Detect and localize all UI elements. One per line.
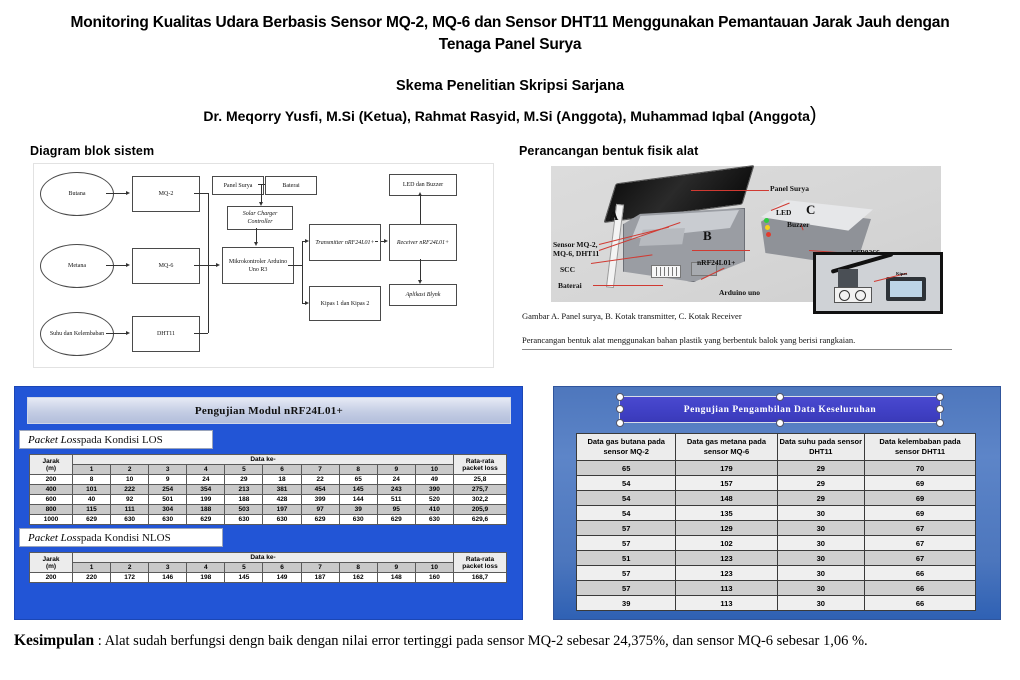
header-col-3: 3: [149, 465, 187, 475]
header-rata-rata: Rata-ratapacket loss: [454, 455, 507, 475]
cell-value: 30: [777, 506, 865, 521]
sensor-header-1: Data gas metana pada sensor MQ-6: [676, 434, 777, 461]
cell-value: 157: [676, 476, 777, 491]
label-b: B: [703, 228, 712, 244]
header-col-3: 3: [149, 563, 187, 573]
label-nrf: nRF24L01+: [697, 258, 735, 267]
table-row: 6004092501199188428399144511520302,2: [30, 495, 507, 505]
diagram-box-led-buzzer: LED dan Buzzer: [389, 174, 457, 196]
led-green-icon: [764, 218, 769, 223]
cell-value: 410: [415, 505, 453, 515]
cell-value: 188: [225, 495, 263, 505]
cell-value: 30: [777, 536, 865, 551]
cell-value: 10: [111, 475, 149, 485]
nlos-header-row-2: 12345678910: [30, 563, 507, 573]
header-col-4: 4: [187, 465, 225, 475]
connector-butana-mq2: [106, 193, 126, 194]
arrow-bus-mcu: [216, 263, 220, 267]
cell-value: 67: [865, 521, 976, 536]
cell-value: 129: [676, 521, 777, 536]
diagram-box-mq6: MQ-6: [132, 248, 200, 284]
cell-value: 95: [377, 505, 415, 515]
cell-jarak: 200: [30, 573, 73, 583]
cell-value: 39: [339, 505, 377, 515]
arrow-scc-mcu: [254, 242, 258, 246]
header-col-2: 2: [111, 465, 149, 475]
arrow-suhu-dht11: [126, 331, 130, 335]
diagram-box-mq2: MQ-2: [132, 176, 200, 212]
cell-average: 302,2: [454, 495, 507, 505]
table-row: 571293067: [577, 521, 976, 536]
selection-handle-tr[interactable]: [936, 393, 944, 401]
physical-design-panel: Panel Surya A B C LED Buzzer Sensor MQ-2…: [522, 163, 978, 366]
table-row: 541572969: [577, 476, 976, 491]
header-col-10: 10: [415, 563, 453, 573]
connector-rx-app: [420, 259, 421, 280]
selection-handle-tc[interactable]: [776, 393, 784, 401]
cell-value: 8: [73, 475, 111, 485]
connector-dht11-bus: [194, 333, 208, 334]
cell-value: 630: [339, 515, 377, 525]
cell-value: 199: [187, 495, 225, 505]
cell-value: 179: [676, 461, 777, 476]
cell-value: 188: [187, 505, 225, 515]
label-arduino: Arduino uno: [719, 288, 760, 297]
selection-handle-bl[interactable]: [616, 419, 624, 427]
header-col-2: 2: [111, 563, 149, 573]
diagram-box-scc: Solar Charger Controller: [227, 206, 293, 230]
sensor-data-panel: Pengujian Pengambilan Data Keseluruhan D…: [553, 386, 1001, 620]
los-header-row-2: 12345678910: [30, 465, 507, 475]
header-col-8: 8: [339, 563, 377, 573]
cell-value: 9: [149, 475, 187, 485]
cell-value: 22: [301, 475, 339, 485]
header-col-9: 9: [377, 465, 415, 475]
table-row: 571133066: [577, 581, 976, 596]
cell-value: 40: [73, 495, 111, 505]
cell-value: 65: [339, 475, 377, 485]
cell-value: 197: [263, 505, 301, 515]
connector-mcu-split: [302, 241, 303, 303]
diagram-box-mcu: Mikrokontroler Arduino Uno R3: [222, 247, 294, 284]
label-sensors-line1: Sensor MQ-2,: [553, 240, 597, 249]
diagram-box-dht11: DHT11: [132, 316, 200, 352]
header-jarak: Jarak(m): [30, 455, 73, 475]
authors-text: Dr. Meqorry Yusfi, M.Si (Ketua), Rahmat …: [203, 108, 809, 124]
label-baterai: Baterai: [558, 281, 582, 290]
cell-value: 66: [865, 581, 976, 596]
cell-value: 66: [865, 566, 976, 581]
connector-metana-mq6: [106, 265, 126, 266]
cell-value: 24: [187, 475, 225, 485]
label-c: C: [806, 202, 815, 218]
sensor-header-3: Data kelembaban pada sensor DHT11: [865, 434, 976, 461]
header-col-9: 9: [377, 563, 415, 573]
connector-tx-rx-dashed: [375, 241, 384, 242]
tab-packet-loss-nlos[interactable]: Packet Loss pada Kondisi NLOS: [19, 528, 223, 547]
title-block: Monitoring Kualitas Udara Berbasis Senso…: [60, 12, 960, 127]
cell-value: 222: [111, 485, 149, 495]
cell-value: 501: [149, 495, 187, 505]
cell-value: 123: [676, 566, 777, 581]
cell-value: 630: [149, 515, 187, 525]
los-header-row-1: Jarak(m)Data ke-Rata-ratapacket loss: [30, 455, 507, 465]
conclusion-label: Kesimpulan: [14, 632, 94, 649]
tab-los-rest: pada Kondisi LOS: [81, 434, 163, 446]
arrow-rx-app: [418, 280, 422, 284]
inset-block-shape: [838, 269, 858, 289]
leader-panel-surya: [691, 190, 769, 191]
leader-nrf: [692, 250, 750, 251]
tab-los-italic: Packet Loss: [28, 434, 81, 446]
cell-value: 172: [111, 573, 149, 583]
cell-value: 630: [415, 515, 453, 525]
cell-value: 54: [577, 491, 676, 506]
header-col-6: 6: [263, 465, 301, 475]
cell-value: 29: [777, 461, 865, 476]
cell-value: 254: [149, 485, 187, 495]
cell-value: 115: [73, 505, 111, 515]
table-packet-loss-nlos: Jarak(m)Data ke-Rata-ratapacket loss1234…: [29, 552, 507, 583]
table-row: 400101222254354213381454145243390275,7: [30, 485, 507, 495]
cell-value: 54: [577, 506, 676, 521]
cell-value: 69: [865, 506, 976, 521]
connector-mcu-out: [288, 265, 302, 266]
arrow-metana-mq6: [126, 263, 130, 267]
table-row: 571023067: [577, 536, 976, 551]
table-row: 391133066: [577, 596, 976, 611]
selection-handle-br[interactable]: [936, 419, 944, 427]
cell-value: 57: [577, 581, 676, 596]
header-col-10: 10: [415, 465, 453, 475]
diagram-section-caption: Diagram blok sistem: [30, 144, 154, 158]
sensor-header-row: Data gas butana pada sensor MQ-2Data gas…: [577, 434, 976, 461]
cell-jarak: 800: [30, 505, 73, 515]
physical-figure-caption: Gambar A. Panel surya, B. Kotak transmit…: [522, 311, 742, 321]
cell-value: 30: [777, 521, 865, 536]
selection-handle-tl[interactable]: [616, 393, 624, 401]
cell-value: 65: [577, 461, 676, 476]
diagram-box-receiver: Receiver nRF24L01+: [389, 224, 457, 261]
nrf-panel-banner: Pengujian Modul nRF24L01+: [27, 397, 511, 424]
connector-rx-led: [420, 196, 421, 224]
subtitle: Skema Penelitian Skripsi Sarjana: [60, 78, 960, 94]
poster-canvas: Monitoring Kualitas Udara Berbasis Senso…: [0, 0, 1020, 680]
header-col-1: 1: [73, 563, 111, 573]
table-row: 541353069: [577, 506, 976, 521]
header-jarak: Jarak(m): [30, 553, 73, 573]
conclusion-body: : Alat sudah berfungsi dengn baik dengan…: [94, 633, 868, 649]
cell-value: 390: [415, 485, 453, 495]
device-inset-photo: Kipas: [813, 252, 943, 314]
leader-baterai: [593, 285, 663, 286]
cell-value: 381: [263, 485, 301, 495]
connector-mq6-mcu: [194, 265, 216, 266]
diagram-caption-bold: Diagram: [30, 144, 81, 158]
cell-value: 29: [777, 491, 865, 506]
arrow-rx-led: [418, 192, 422, 196]
arrow-mcu-transmitter: [305, 239, 309, 243]
nrf-panel-banner-text: Pengujian Modul nRF24L01+: [195, 405, 343, 417]
cell-value: 67: [865, 551, 976, 566]
cell-value: 111: [111, 505, 149, 515]
sensor-panel-banner-text: Pengujian Pengambilan Data Keseluruhan: [684, 405, 876, 415]
label-kipas: Kipas: [896, 271, 907, 276]
led-red-icon: [766, 232, 771, 237]
cell-value: 113: [676, 581, 777, 596]
table-sensor-data: Data gas butana pada sensor MQ-2Data gas…: [576, 433, 976, 611]
diagram-input-butana: Butana: [40, 172, 114, 216]
tab-packet-loss-los[interactable]: Packet Loss pada Kondisi LOS: [19, 430, 213, 449]
cell-value: 145: [225, 573, 263, 583]
cell-average: 629,6: [454, 515, 507, 525]
fans-shape: [834, 287, 872, 303]
cell-value: 213: [225, 485, 263, 495]
physical-section-caption: Perancangan bentuk fisik alat: [519, 144, 698, 158]
cell-value: 30: [777, 581, 865, 596]
table-row: 1000629630630629630630629630629630629,6: [30, 515, 507, 525]
cell-value: 101: [73, 485, 111, 495]
label-buzzer: Buzzer: [787, 220, 810, 229]
monitor-shape: [886, 277, 926, 301]
cell-jarak: 1000: [30, 515, 73, 525]
cell-value: 629: [377, 515, 415, 525]
cell-value: 187: [301, 573, 339, 583]
sensor-header-0: Data gas butana pada sensor MQ-2: [577, 434, 676, 461]
cell-value: 39: [577, 596, 676, 611]
connector-suhu-dht11: [106, 333, 126, 334]
cell-value: 30: [777, 596, 865, 611]
arrow-power-scc: [259, 202, 263, 206]
header-col-1: 1: [73, 465, 111, 475]
cell-value: 454: [301, 485, 339, 495]
diagram-box-fans: Kipas 1 dan Kipas 2: [309, 286, 381, 321]
diagram-box-app: Aplikasi Blynk: [389, 284, 457, 306]
cell-value: 57: [577, 521, 676, 536]
cell-value: 54: [577, 476, 676, 491]
cell-value: 29: [225, 475, 263, 485]
table-row: 20081092429182265244925,8: [30, 475, 507, 485]
diagram-input-suhu: Suhu dan Kelembaban: [40, 312, 114, 356]
cell-jarak: 400: [30, 485, 73, 495]
diagram-box-transmitter: Transmitter nRF24L01+: [309, 224, 381, 261]
cell-value: 69: [865, 491, 976, 506]
tab-nlos-rest: pada Kondisi NLOS: [81, 532, 171, 544]
cell-value: 51: [577, 551, 676, 566]
header-col-7: 7: [301, 465, 339, 475]
cell-average: 168,7: [454, 573, 507, 583]
cell-value: 511: [377, 495, 415, 505]
cell-value: 144: [339, 495, 377, 505]
cell-value: 630: [263, 515, 301, 525]
cell-value: 29: [777, 476, 865, 491]
header-col-5: 5: [225, 465, 263, 475]
connector-mq2-bus: [194, 193, 208, 194]
arrow-tx-rx: [384, 239, 388, 243]
led-yellow-icon: [765, 225, 770, 230]
cell-value: 354: [187, 485, 225, 495]
header-data-ke: Data ke-: [73, 553, 454, 563]
table-row: 541482969: [577, 491, 976, 506]
cell-value: 69: [865, 476, 976, 491]
header-col-5: 5: [225, 563, 263, 573]
cell-value: 113: [676, 596, 777, 611]
arrow-mcu-fans: [305, 301, 309, 305]
cell-value: 30: [777, 551, 865, 566]
diagram-caption-rest: blok sistem: [81, 144, 154, 158]
cell-value: 148: [676, 491, 777, 506]
label-scc: SCC: [560, 265, 575, 274]
cell-value: 66: [865, 596, 976, 611]
cell-value: 149: [263, 573, 301, 583]
cell-value: 70: [865, 461, 976, 476]
label-sensors-line2: MQ-6, DHT11: [553, 249, 599, 258]
selection-handle-mr[interactable]: [936, 405, 944, 413]
cell-value: 399: [301, 495, 339, 505]
header-rata-rata: Rata-ratapacket loss: [454, 553, 507, 573]
diagram-box-panel-surya: Panel Surya: [212, 176, 264, 195]
label-panel-surya: Panel Surya: [770, 184, 809, 193]
nlos-header-row-1: Jarak(m)Data ke-Rata-ratapacket loss: [30, 553, 507, 563]
selection-handle-ml[interactable]: [616, 405, 624, 413]
bus-vertical-top: [208, 193, 209, 265]
label-led: LED: [776, 208, 791, 217]
cell-value: 520: [415, 495, 453, 505]
cell-value: 57: [577, 566, 676, 581]
cell-value: 24: [377, 475, 415, 485]
cell-value: 30: [777, 566, 865, 581]
cell-value: 629: [301, 515, 339, 525]
diagram-box-baterai: Baterai: [265, 176, 317, 195]
transmitter-inner-shape: [639, 228, 685, 246]
table-row: 511233067: [577, 551, 976, 566]
cell-value: 243: [377, 485, 415, 495]
cell-value: 630: [111, 515, 149, 525]
bus-vertical-bottom: [208, 265, 209, 333]
page-title: Monitoring Kualitas Udara Berbasis Senso…: [60, 12, 960, 56]
cell-value: 148: [377, 573, 415, 583]
connector-scc-mcu: [256, 228, 257, 242]
header-col-4: 4: [187, 563, 225, 573]
cell-value: 92: [111, 495, 149, 505]
table-row: 200220172146198145149187162148160168,7: [30, 573, 507, 583]
cell-jarak: 600: [30, 495, 73, 505]
table-packet-loss-los: Jarak(m)Data ke-Rata-ratapacket loss1234…: [29, 454, 507, 525]
cell-value: 57: [577, 536, 676, 551]
header-data-ke: Data ke-: [73, 455, 454, 465]
physical-note: Perancangan bentuk alat menggunakan baha…: [522, 335, 855, 345]
table-row: 651792970: [577, 461, 976, 476]
cell-value: 629: [187, 515, 225, 525]
cell-value: 18: [263, 475, 301, 485]
sensor-header-2: Data suhu pada sensor DHT11: [777, 434, 865, 461]
arrow-butana-mq2: [126, 191, 130, 195]
cell-value: 428: [263, 495, 301, 505]
selection-handle-bc[interactable]: [776, 419, 784, 427]
table-row: 800115111304188503197973995410205,9: [30, 505, 507, 515]
block-diagram-panel: Butana Metana Suhu dan Kelembaban MQ-2 M…: [33, 163, 494, 368]
cell-value: 503: [225, 505, 263, 515]
cell-average: 205,9: [454, 505, 507, 515]
cell-value: 630: [225, 515, 263, 525]
cell-value: 198: [187, 573, 225, 583]
cell-value: 97: [301, 505, 339, 515]
header-col-7: 7: [301, 563, 339, 573]
battery-shape: [651, 265, 681, 278]
authors-close-paren: ): [810, 104, 817, 126]
cell-value: 304: [149, 505, 187, 515]
cell-value: 162: [339, 573, 377, 583]
cell-value: 102: [676, 536, 777, 551]
physical-note-underline: [522, 349, 952, 350]
header-col-8: 8: [339, 465, 377, 475]
nrf-test-panel: Pengujian Modul nRF24L01+ Packet Loss pa…: [14, 386, 523, 620]
cell-average: 275,7: [454, 485, 507, 495]
cell-value: 145: [339, 485, 377, 495]
header-col-6: 6: [263, 563, 301, 573]
cell-jarak: 200: [30, 475, 73, 485]
cell-value: 160: [415, 573, 453, 583]
label-a: A: [609, 208, 618, 224]
device-illustration: Panel Surya A B C LED Buzzer Sensor MQ-2…: [551, 166, 941, 302]
conclusion-text: Kesimpulan : Alat sudah berfungsi dengn …: [14, 630, 974, 652]
authors-line: Dr. Meqorry Yusfi, M.Si (Ketua), Rahmat …: [60, 104, 960, 127]
cell-average: 25,8: [454, 475, 507, 485]
cell-value: 220: [73, 573, 111, 583]
cell-value: 49: [415, 475, 453, 485]
table-row: 571233066: [577, 566, 976, 581]
cell-value: 629: [73, 515, 111, 525]
diagram-input-metana: Metana: [40, 244, 114, 288]
cell-value: 67: [865, 536, 976, 551]
cell-value: 135: [676, 506, 777, 521]
cell-value: 146: [149, 573, 187, 583]
cell-value: 123: [676, 551, 777, 566]
tab-nlos-italic: Packet Loss: [28, 532, 81, 544]
connector-power-down: [261, 184, 262, 202]
